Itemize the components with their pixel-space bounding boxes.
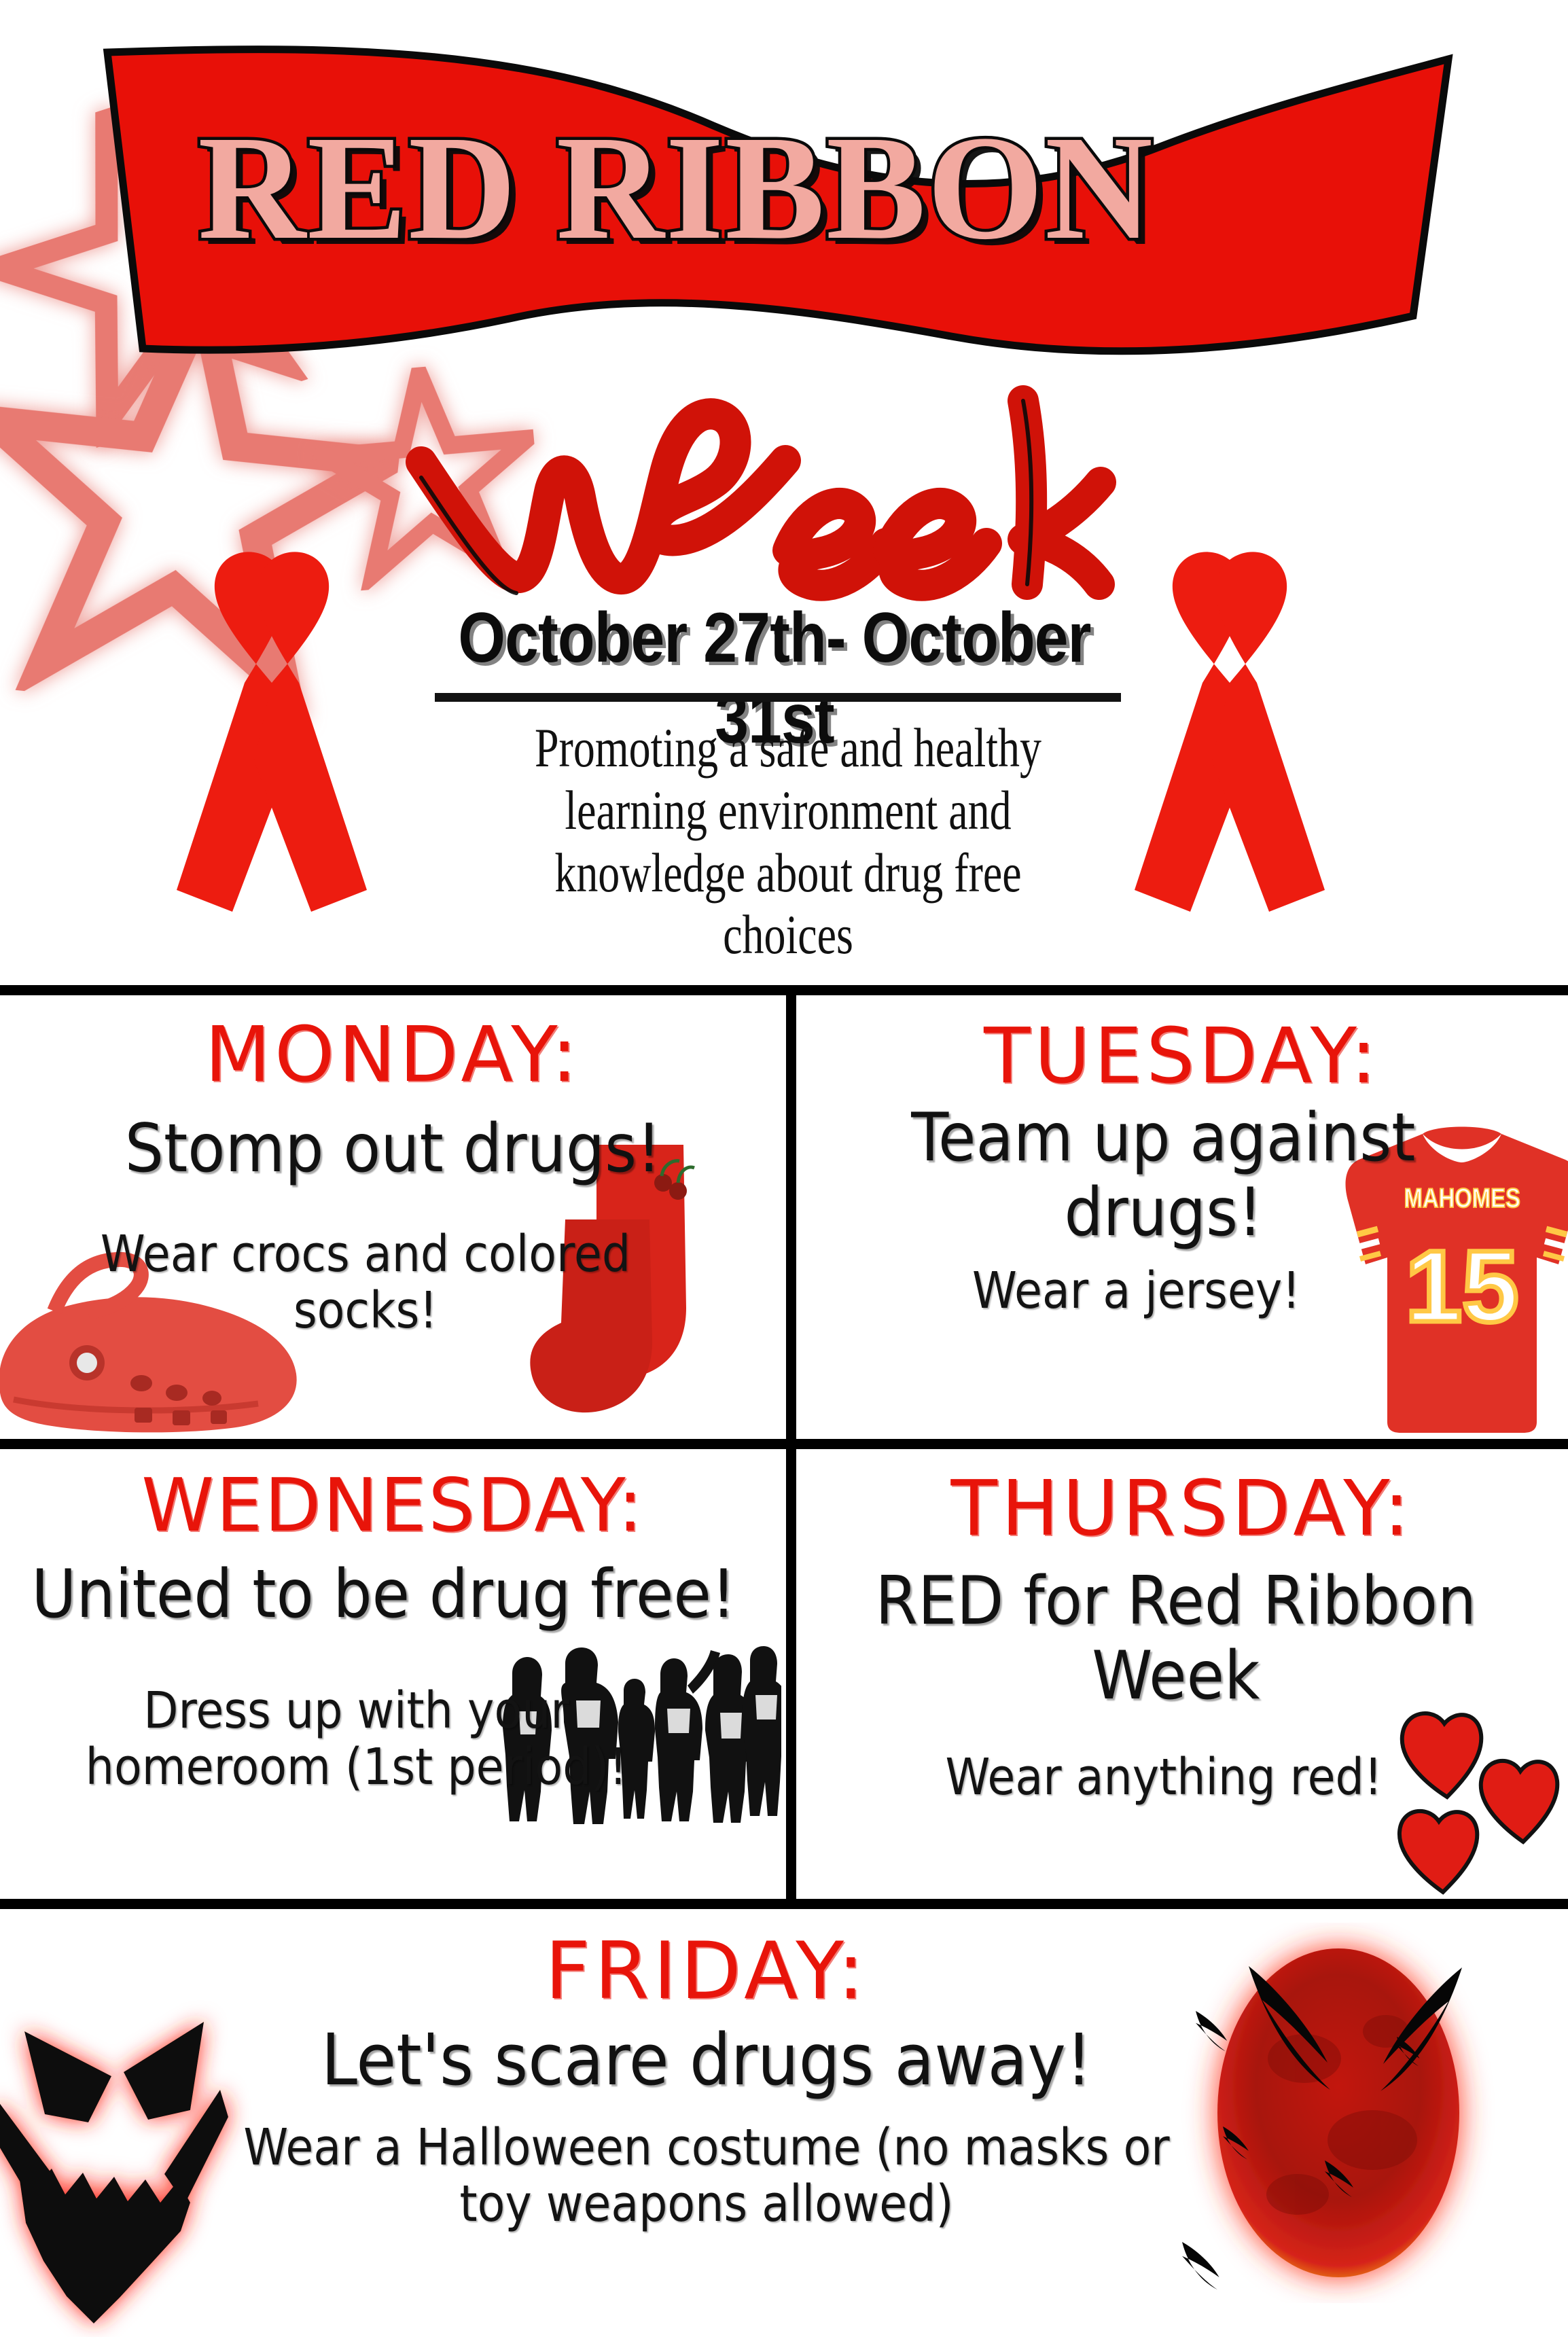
grid-line-horizontal bbox=[0, 1439, 1568, 1449]
day-theme: Team up against drugs! bbox=[827, 1094, 1537, 1251]
day-heading: MONDAY: bbox=[0, 995, 786, 1093]
awareness-ribbon-icon bbox=[1128, 537, 1332, 917]
day-heading: THURSDAY: bbox=[796, 1449, 1568, 1547]
divider bbox=[435, 693, 1121, 702]
day-theme: RED for Red Ribbon Week bbox=[827, 1547, 1537, 1714]
grid-line-vertical bbox=[786, 1439, 796, 1899]
grid-line-vertical bbox=[786, 985, 796, 1439]
day-instruction: Wear crocs and colored socks! bbox=[39, 1187, 747, 1339]
awareness-ribbon-icon bbox=[170, 537, 374, 917]
poster-header: RED RIBBON October 27th- October 31st Pr… bbox=[0, 0, 1568, 985]
day-cell-wednesday: WEDNESDAY: United to be drug free! Dress… bbox=[0, 1449, 786, 1899]
day-cell-monday: MONDAY: Stomp out drugs! Wear crocs and … bbox=[0, 995, 786, 1439]
day-heading: TUESDAY: bbox=[796, 995, 1568, 1094]
day-instruction: Wear anything red! bbox=[835, 1714, 1529, 1806]
day-instruction: Dress up with your homeroom (1st period)… bbox=[39, 1633, 747, 1796]
day-heading: WEDNESDAY: bbox=[0, 1449, 786, 1543]
day-instruction: Wear a Halloween costume (no masks or to… bbox=[211, 2099, 1202, 2232]
day-theme: Stomp out drugs! bbox=[31, 1093, 754, 1187]
poster-subtitle: Promoting a safe and healthy learning en… bbox=[523, 717, 1053, 966]
day-cell-thursday: THURSDAY: RED for Red Ribbon Week Wear a… bbox=[796, 1449, 1568, 1899]
day-theme: United to be drug free! bbox=[31, 1543, 754, 1633]
day-cell-friday: FRIDAY: Let's scare drugs away! Wear a H… bbox=[0, 1909, 1568, 2352]
day-instruction: Wear a jersey! bbox=[835, 1251, 1529, 1319]
script-week-word bbox=[380, 380, 1182, 605]
grid-line-horizontal bbox=[0, 985, 1568, 995]
day-cell-tuesday: TUESDAY: Team up against drugs! Wear a j… bbox=[796, 995, 1568, 1439]
grid-line-horizontal bbox=[0, 1899, 1568, 1909]
day-heading: FRIDAY: bbox=[156, 1909, 1257, 2011]
day-theme: Let's scare drugs away! bbox=[200, 2011, 1213, 2099]
page-title: RED RIBBON bbox=[0, 102, 1352, 274]
